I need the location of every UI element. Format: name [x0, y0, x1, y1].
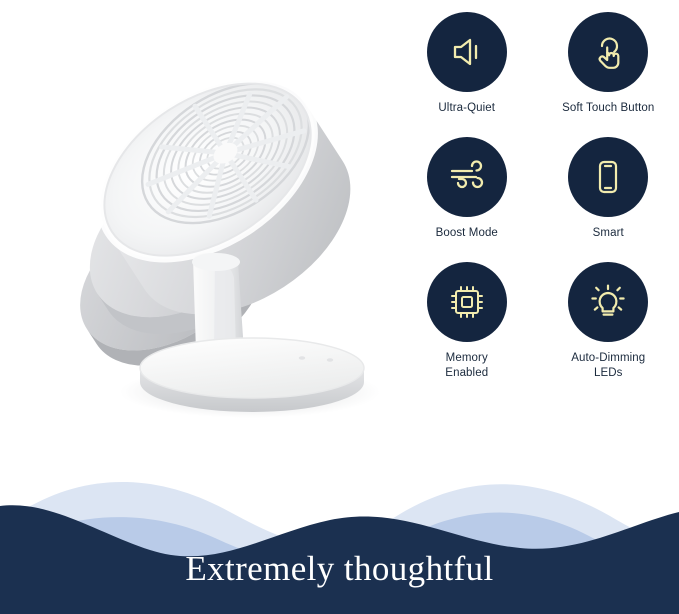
feature-soft-touch[interactable]: Soft Touch Button	[538, 12, 679, 137]
speaker-icon	[447, 32, 487, 72]
chip-icon	[447, 282, 487, 322]
feature-label: Memory Enabled	[445, 351, 488, 380]
feature-badge	[568, 262, 648, 342]
touch-hand-icon	[588, 32, 628, 72]
wind-icon	[446, 156, 488, 198]
banner-headline: Extremely thoughtful	[0, 524, 679, 614]
feature-label: Ultra-Quiet	[438, 101, 495, 116]
feature-label: Boost Mode	[436, 226, 498, 241]
feature-badge	[427, 262, 507, 342]
feature-ultra-quiet[interactable]: Ultra-Quiet	[396, 12, 538, 137]
feature-smart[interactable]: Smart	[538, 137, 679, 262]
feature-badge	[427, 137, 507, 217]
product-image	[0, 0, 395, 440]
wave-banner: Extremely thoughtful	[0, 454, 679, 614]
feature-label: Auto-Dimming LEDs	[571, 351, 645, 380]
feature-label: Smart	[593, 226, 624, 241]
lightbulb-icon	[587, 281, 629, 323]
product-feature-infographic: Ultra-Quiet Soft Touch Button	[0, 0, 679, 614]
feature-badge	[568, 137, 648, 217]
feature-badge	[427, 12, 507, 92]
feature-label: Soft Touch Button	[562, 101, 654, 116]
feature-auto-dimming[interactable]: Auto-Dimming LEDs	[538, 262, 679, 392]
feature-badge	[568, 12, 648, 92]
feature-memory-enabled[interactable]: Memory Enabled	[396, 262, 538, 392]
fan-base	[140, 338, 364, 412]
phone-icon	[588, 157, 628, 197]
feature-boost-mode[interactable]: Boost Mode	[396, 137, 538, 262]
feature-grid: Ultra-Quiet Soft Touch Button	[396, 12, 679, 402]
